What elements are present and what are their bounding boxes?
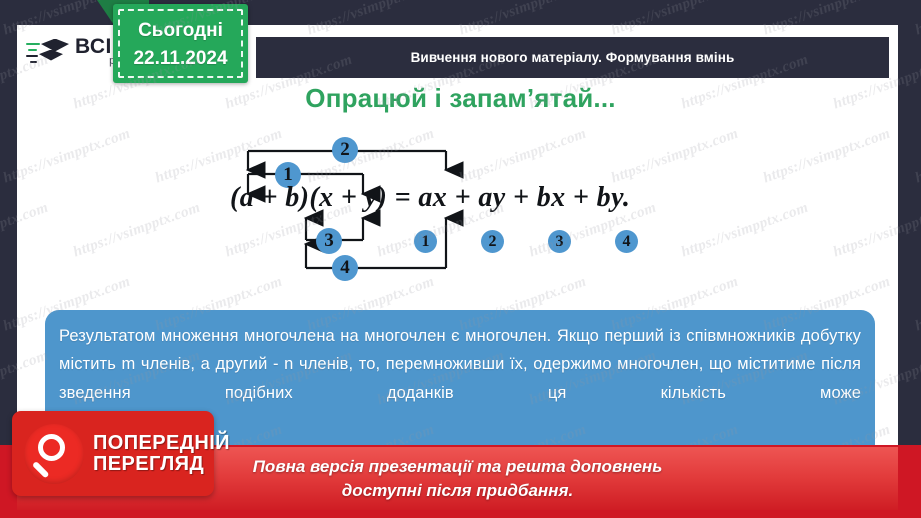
date-badge-label: Сьогодні	[138, 17, 223, 45]
brand-logo: ВСІМ pptx	[17, 25, 127, 78]
preview-badge: ПОПЕРЕДНІЙ ПЕРЕГЛЯД	[12, 411, 214, 496]
magnifier-icon	[24, 424, 84, 484]
result-marker-3: 3	[548, 230, 571, 253]
slide-header-bar: Вивчення нового матеріалу. Формування вм…	[256, 37, 889, 78]
watermark-text: https://vsimpptx.com	[913, 0, 921, 39]
equation: (a + b)(x + y) = ax + ay + bx + by.	[230, 182, 690, 214]
date-badge-value: 22.11.2024	[133, 45, 227, 73]
section-title: Опрацюй і запам’ятай...	[0, 83, 921, 114]
slide-stage: ВСІМ pptx Сьогодні 22.11.2024 Вивчення н…	[0, 0, 921, 518]
preview-badge-line1: ПОПЕРЕДНІЙ	[93, 433, 230, 453]
graduation-cap-icon	[25, 35, 71, 69]
info-box-text: Результатом множення многочлена на много…	[59, 322, 861, 407]
date-badge: Сьогодні 22.11.2024	[113, 4, 248, 83]
result-marker-2: 2	[481, 230, 504, 253]
purchase-banner-line2: доступні після придбання.	[342, 479, 573, 503]
purchase-banner-line1: Повна версія презентації та решта доповн…	[253, 455, 663, 479]
slide-header-title: Вивчення нового матеріалу. Формування вм…	[411, 50, 735, 65]
step-marker-4: 4	[332, 255, 358, 281]
formula-diagram: 1 2 3 4 (a + b)(x + y) = ax + ay + bx + …	[230, 122, 690, 292]
equation-text: (a + b)(x + y) = ax + ay + bx + by.	[230, 182, 630, 213]
watermark-text: https://vsimpptx.com	[913, 126, 921, 188]
preview-badge-line2: ПЕРЕГЛЯД	[93, 454, 230, 474]
result-marker-1: 1	[414, 230, 437, 253]
section-title-text: Опрацюй і запам’ятай...	[305, 83, 615, 113]
result-marker-4: 4	[615, 230, 638, 253]
watermark-text: https://vsimpptx.com	[913, 274, 921, 336]
step-marker-3: 3	[316, 228, 342, 254]
step-marker-2: 2	[332, 137, 358, 163]
